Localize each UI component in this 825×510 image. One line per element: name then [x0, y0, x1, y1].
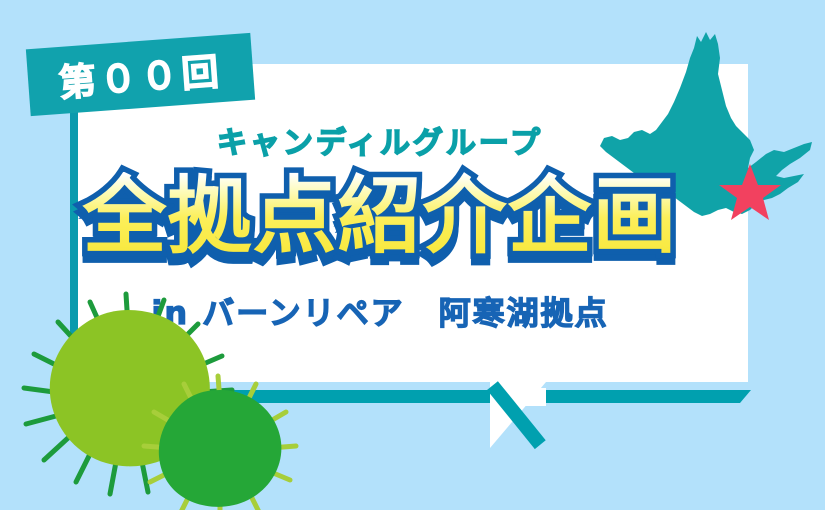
banner-canvas: 第００回 キャンディルグループ 全拠点紹介企画 全拠点紹介企画 全拠点紹介企画 …: [0, 0, 825, 510]
marimo-small-icon: [140, 372, 300, 510]
main-title: 全拠点紹介企画 全拠点紹介企画 全拠点紹介企画: [0, 172, 760, 282]
marimo-small-body: [159, 390, 282, 507]
main-title-fill: 全拠点紹介企画: [82, 172, 677, 260]
group-name-kicker: キャンディルグループ: [0, 118, 760, 162]
